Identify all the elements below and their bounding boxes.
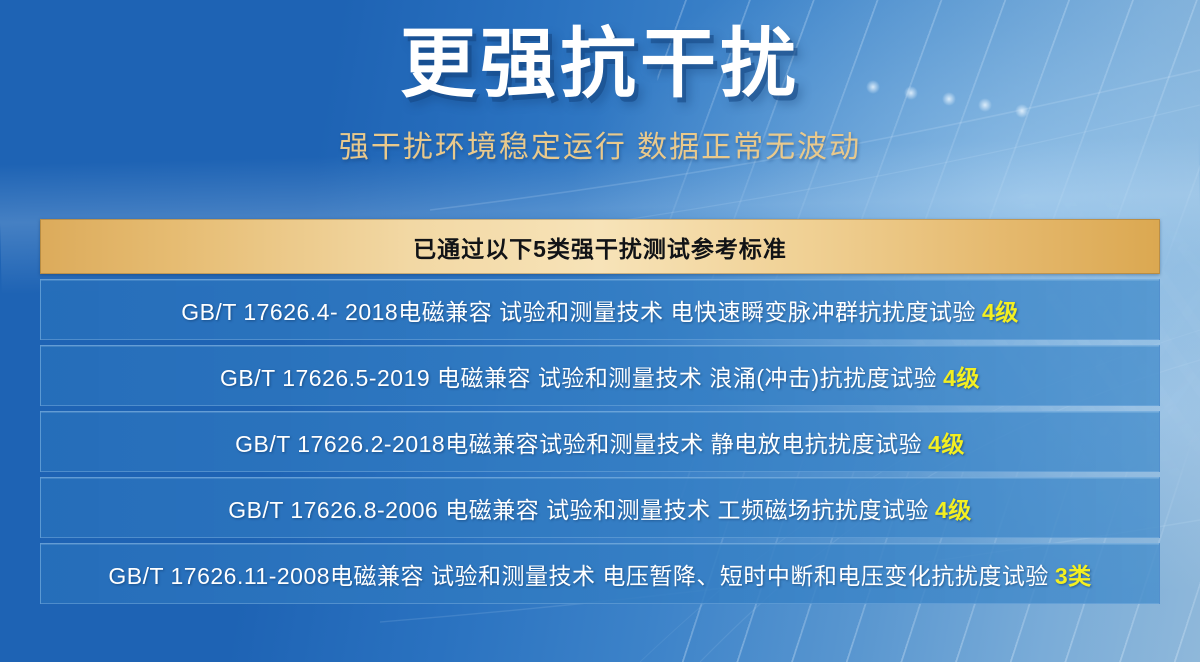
standards-list: GB/T 17626.4- 2018电磁兼容 试验和测量技术 电快速瞬变脉冲群抗… [40, 279, 1160, 604]
list-item: GB/T 17626.8-2006 电磁兼容 试验和测量技术 工频磁场抗扰度试验… [40, 477, 1160, 538]
list-item: GB/T 17626.4- 2018电磁兼容 试验和测量技术 电快速瞬变脉冲群抗… [40, 279, 1160, 340]
standards-panel-header: 已通过以下5类强干扰测试参考标准 [40, 219, 1160, 274]
standard-text: GB/T 17626.8-2006 电磁兼容 试验和测量技术 工频磁场抗扰度试验 [228, 491, 929, 525]
status-badge: 4级 [935, 491, 972, 525]
status-badge: 4级 [928, 425, 965, 459]
page-subtitle: 强干扰环境稳定运行 数据正常无波动 [0, 122, 1200, 166]
list-item: GB/T 17626.5-2019 电磁兼容 试验和测量技术 浪涌(冲击)抗扰度… [40, 345, 1160, 406]
standard-text: GB/T 17626.2-2018电磁兼容试验和测量技术 静电放电抗扰度试验 [235, 425, 922, 459]
standard-text: GB/T 17626.5-2019 电磁兼容 试验和测量技术 浪涌(冲击)抗扰度… [220, 359, 937, 393]
standard-text: GB/T 17626.11-2008电磁兼容 试验和测量技术 电压暂降、短时中断… [108, 557, 1048, 591]
standards-panel: 已通过以下5类强干扰测试参考标准 GB/T 17626.4- 2018电磁兼容 … [40, 219, 1160, 604]
list-item: GB/T 17626.2-2018电磁兼容试验和测量技术 静电放电抗扰度试验 4… [40, 411, 1160, 472]
standards-panel-header-text: 已通过以下5类强干扰测试参考标准 [413, 230, 787, 264]
status-badge: 4级 [982, 293, 1019, 327]
standard-text: GB/T 17626.4- 2018电磁兼容 试验和测量技术 电快速瞬变脉冲群抗… [181, 293, 976, 327]
hero-block: 更强抗干扰 强干扰环境稳定运行 数据正常无波动 [0, 0, 1200, 166]
status-badge: 3类 [1055, 557, 1092, 591]
list-item: GB/T 17626.11-2008电磁兼容 试验和测量技术 电压暂降、短时中断… [40, 543, 1160, 604]
page-title: 更强抗干扰 [0, 24, 1200, 106]
status-badge: 4级 [943, 359, 980, 393]
banner-root: 更强抗干扰 强干扰环境稳定运行 数据正常无波动 已通过以下5类强干扰测试参考标准… [0, 0, 1200, 662]
